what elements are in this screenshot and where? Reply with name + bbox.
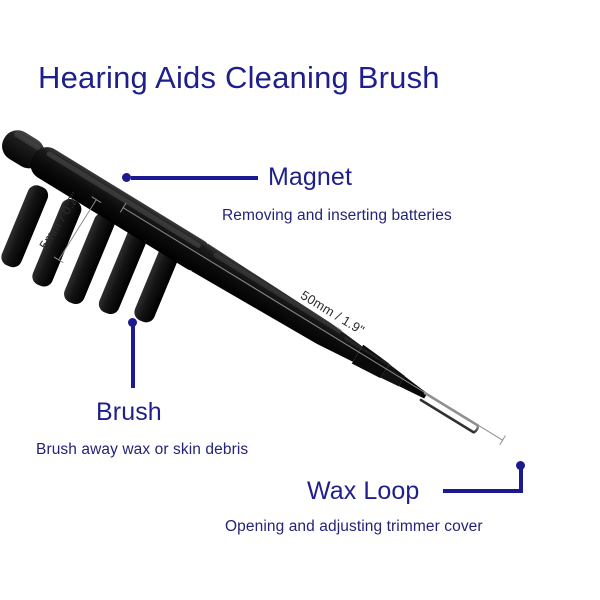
- callout-wax-loop-title: Wax Loop: [307, 477, 419, 506]
- dimension-length-label: 50mm / 1.9": [298, 287, 367, 337]
- pen-assembly: [0, 124, 487, 530]
- brush-leader-line: [131, 326, 135, 388]
- page-title: Hearing Aids Cleaning Brush: [38, 60, 440, 96]
- dimension-width-label: 5mm / 0.2": [36, 189, 83, 252]
- magnet-leader-dot: [122, 173, 131, 182]
- magnet-cap: [0, 125, 50, 174]
- callout-brush-title: Brush: [96, 398, 162, 427]
- infographic-canvas: Hearing Aids Cleaning Brush: [0, 0, 600, 600]
- wax-loop-leader-line-horizontal: [443, 489, 522, 493]
- callout-wax-loop-subtitle: Opening and adjusting trimmer cover: [225, 518, 483, 536]
- dimension-width-tick-end: [91, 196, 101, 203]
- dimension-length: 50mm / 1.9": [119, 200, 508, 447]
- callout-brush-subtitle: Brush away wax or skin debris: [36, 441, 248, 459]
- dimension-length-tick-start: [120, 202, 127, 212]
- dimension-width: 5mm / 0.2": [51, 195, 103, 265]
- dimension-length-line: [122, 207, 503, 441]
- callout-magnet-title: Magnet: [268, 163, 352, 192]
- callout-magnet-subtitle: Removing and inserting batteries: [222, 207, 452, 225]
- magnet-leader-line: [131, 176, 258, 180]
